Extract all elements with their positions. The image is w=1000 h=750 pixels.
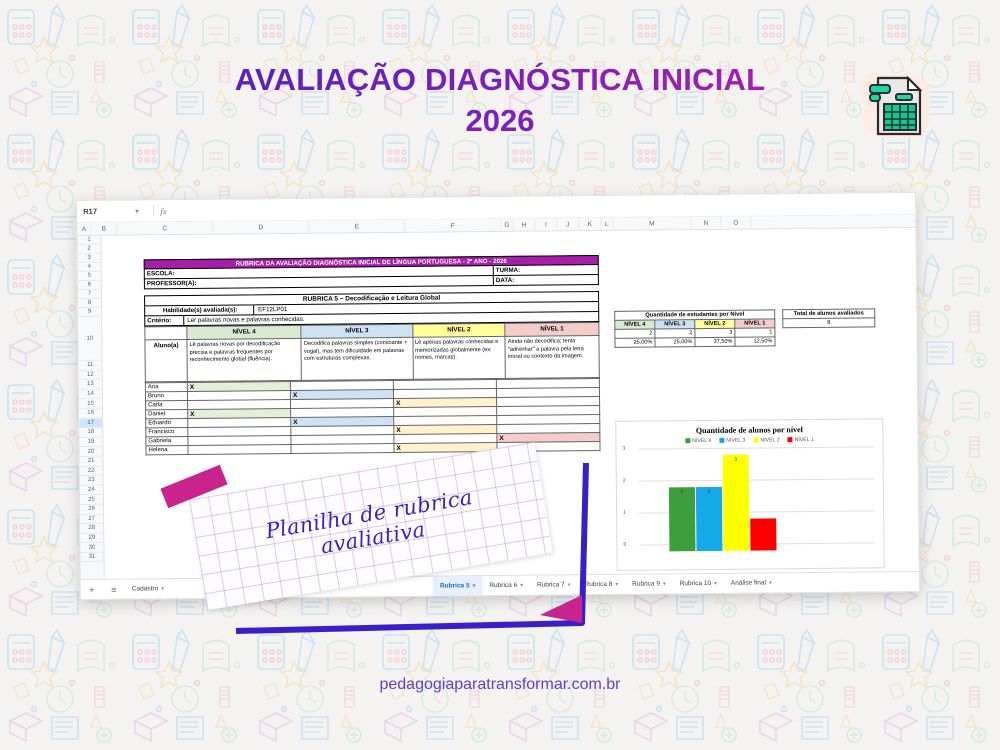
all-sheets-menu-icon[interactable]: ≡ [103,584,125,594]
level-description-4: Lê palavras novas por decodificação prec… [187,339,302,382]
row-header-22[interactable]: 22 [80,466,103,476]
tab-chevron-down-icon[interactable]: ▾ [663,581,666,587]
sheet-tab-an-lise-final[interactable]: Análise final▾ [724,573,779,594]
level-description-1: Ainda não decodifica; tenta "adivinhar" … [505,336,599,379]
column-header-B[interactable]: B [91,223,117,235]
column-header-C[interactable]: C [117,222,213,235]
row-header-23[interactable]: 23 [80,476,103,486]
row-header-15[interactable]: 15 [79,399,102,409]
chart-plot-area: 0123 2231 [631,446,876,551]
row-header-25[interactable]: 25 [80,495,103,505]
count-value-1: 1 [735,328,775,337]
row-header-2[interactable]: 2 [78,245,101,254]
add-sheet-icon[interactable]: + [81,584,103,594]
count-header-1: NÍVEL 1 [735,319,775,328]
row-header-31[interactable]: 31 [80,553,103,563]
total-value: 8 [783,318,875,328]
tab-chevron-down-icon[interactable]: ▾ [714,580,717,586]
student-name: Carla [146,401,188,410]
chart-bars: 2231 [669,454,777,551]
aluno-label: Aluno(a) [145,340,187,382]
count-header-4: NÍVEL 4 [615,320,655,329]
name-box-chevron-down-icon[interactable]: ▾ [135,207,153,215]
row-header-6[interactable]: 6 [78,281,101,290]
row-header-28[interactable]: 28 [80,524,103,534]
percent-value-1: 12,50% [735,337,775,346]
sticky-note: Planilha de rubrica avaliativa [196,470,546,582]
level-cell-4[interactable] [188,445,291,455]
row-header-20[interactable]: 20 [79,447,102,457]
spreadsheet-icon [854,62,940,148]
row-header-24[interactable]: 24 [80,486,103,496]
level-description-row: Aluno(a)Lê palavras novas por decodifica… [145,336,599,382]
column-header-L[interactable]: L [601,218,613,230]
row-header-19[interactable]: 19 [79,438,102,448]
row-header-21[interactable]: 21 [80,457,103,467]
student-name: Ana [145,383,187,392]
legend-item-3: NÍVEL 3 [719,438,745,444]
column-header-N[interactable]: N [691,217,721,229]
percent-value-4: 25,00% [615,338,655,347]
column-header-K[interactable]: K [579,218,601,230]
level-description-2: Lê apenas palavras conhecidas e memoriza… [412,337,505,380]
count-value-2: 3 [695,328,735,337]
bar-label-3: 2 [696,489,722,495]
bar-label-4: 2 [669,489,695,495]
bar-label-1: 1 [750,520,776,526]
column-header-E[interactable]: E [309,220,405,233]
column-header-F[interactable]: F [405,219,501,232]
column-header-I[interactable]: I [535,218,557,230]
chart-gridlines: 0123 [631,446,875,448]
gridline [639,446,875,449]
student-name: Eduardo [146,419,188,428]
row-header-29[interactable]: 29 [80,533,103,543]
count-header-3: NÍVEL 3 [655,320,695,329]
sheet-tab-cadastro[interactable]: Cadastro▾ [125,579,171,599]
row-header-13[interactable]: 13 [79,380,102,390]
row-header-9[interactable]: 9 [78,308,101,317]
row-header-7[interactable]: 7 [78,290,101,299]
legend-item-2: NÍVEL 2 [753,437,779,443]
row-header-1[interactable]: 1 [77,236,100,245]
bar-4: 2 [669,487,696,551]
page-title: AVALIAÇÃO DIAGNÓSTICA INICIAL [0,62,1000,99]
row-header-26[interactable]: 26 [80,505,103,515]
y-axis-tick-0: 0 [623,542,626,548]
bar-chart[interactable]: Quantidade de alunos por nível NÍVEL 4NÍ… [615,418,884,571]
sheet-tab-rubrica-9[interactable]: Rubrica 9▾ [625,574,673,594]
bar-label-2: 3 [723,457,749,463]
count-value-4: 2 [615,329,655,338]
tab-chevron-down-icon[interactable]: ▾ [615,581,618,587]
count-value-3: 2 [655,329,695,338]
count-header-2: NÍVEL 2 [695,319,735,328]
bar-2: 3 [723,455,750,551]
level-counts-table: Quantidade de estudantes por NívelNÍVEL … [614,309,775,348]
column-header-M[interactable]: M [613,217,691,230]
row-header-10[interactable]: 10 [78,317,101,361]
page-header: AVALIAÇÃO DIAGNÓSTICA INICIAL 2026 [0,62,1000,141]
level-cell-3[interactable] [291,444,394,454]
fx-icon: fx [160,206,167,216]
tab-chevron-down-icon[interactable]: ▾ [769,580,772,586]
row-header-30[interactable]: 30 [80,543,103,553]
professor-label: PROFESSOR(A): [144,276,494,289]
row-header-8[interactable]: 8 [78,299,101,308]
page-title-year: 2026 [0,101,1000,141]
column-header-H[interactable]: H [513,219,535,231]
total-students-table: Total de alunos avaliados 8 [782,308,875,328]
divider [153,205,154,216]
column-header-A[interactable]: A [77,223,91,235]
levels-table: NÍVEL 4NÍVEL 3NÍVEL 2NÍVEL 1Aluno(a)Lê p… [144,322,600,383]
column-header-J[interactable]: J [557,218,579,230]
student-name: Francisco [146,428,188,437]
data-label: DATA: [494,275,599,286]
bar-1: 1 [750,518,776,550]
student-name: Helena [146,446,188,455]
column-header-D[interactable]: D [213,221,309,234]
student-name: Gabriela [146,437,188,446]
row-header-4[interactable]: 4 [78,263,101,272]
student-name: Daniel [146,410,188,419]
sheet-title-block: RUBRICA DA AVALIAÇÃO DIAGNÓSTICA INICIAL… [144,255,599,289]
legend-item-1: NÍVEL 1 [788,437,814,443]
name-box[interactable]: R17 [83,206,135,215]
footer-url: pedagogiaparatransformar.com.br [0,676,1000,694]
bar-3: 2 [696,487,723,551]
tab-chevron-down-icon[interactable]: ▾ [161,586,164,592]
level-header-3: NÍVEL 3 [301,324,412,338]
spacer-cell [145,326,187,340]
y-axis-tick-3: 3 [622,446,625,452]
level-description-3: Decodifica palavras simples (consoante +… [301,338,412,381]
rubric-block: RUBRICA 5 – Decodificação e Leitura Glob… [144,291,601,456]
row-header-16[interactable]: 16 [79,409,102,419]
level-header-2: NÍVEL 2 [412,323,505,337]
percent-value-3: 25,00% [655,338,695,347]
chart-legend: NÍVEL 4NÍVEL 3NÍVEL 2NÍVEL 1 [616,436,882,445]
level-header-4: NÍVEL 4 [187,325,302,339]
row-header-12[interactable]: 12 [79,370,102,380]
percent-value-2: 37,50% [695,337,735,346]
legend-item-4: NÍVEL 4 [685,438,711,444]
row-header-14[interactable]: 14 [79,390,102,400]
row-header-18[interactable]: 18 [79,428,102,438]
y-axis-tick-2: 2 [623,478,626,484]
row-header-11[interactable]: 11 [79,361,102,371]
row-header-column: 1234567891011121314151617181920212223242… [77,236,104,583]
row-header-27[interactable]: 27 [80,514,103,524]
sheet-tab-rubrica-10[interactable]: Rubrica 10▾ [673,573,724,593]
criterio-label: Critério: [144,316,184,326]
student-name: Bruno [145,392,187,401]
level-header-1: NÍVEL 1 [505,323,599,337]
row-header-3[interactable]: 3 [78,254,101,263]
chart-title: Quantidade de alunos por nível [616,424,882,436]
column-header-G[interactable]: G [501,219,513,231]
column-header-O[interactable]: O [721,217,751,229]
y-axis-tick-1: 1 [623,510,626,516]
row-header-5[interactable]: 5 [78,272,101,281]
row-header-17[interactable]: 17 [79,418,102,428]
